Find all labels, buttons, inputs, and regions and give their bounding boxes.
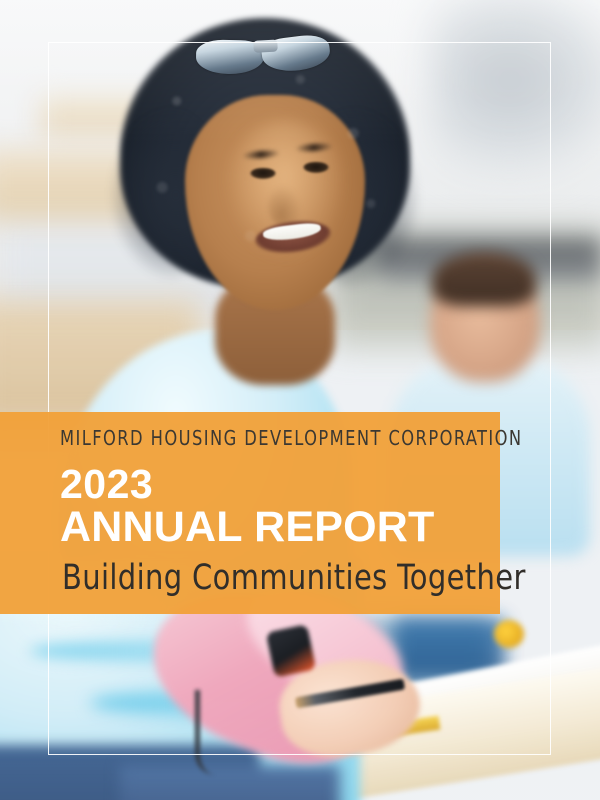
woman-jeans-shadow (120, 765, 340, 800)
title-banner-content: MILFORD HOUSING DEVELOPMENT CORPORATION … (60, 412, 500, 614)
report-year: 2023 (60, 464, 153, 505)
report-cover: MILFORD HOUSING DEVELOPMENT CORPORATION … (0, 0, 600, 800)
sunglasses-bridge (253, 40, 278, 53)
photo-background-structure (430, 0, 600, 180)
man-hair (432, 252, 536, 306)
yellow-tool (494, 620, 524, 648)
cover-photo (0, 0, 600, 800)
report-title: ANNUAL REPORT (60, 504, 434, 551)
report-tagline: Building Communities Together (62, 558, 526, 598)
cord (195, 690, 216, 775)
title-banner: MILFORD HOUSING DEVELOPMENT CORPORATION … (0, 412, 500, 614)
sunglasses-icon (195, 30, 343, 80)
organization-name: MILFORD HOUSING DEVELOPMENT CORPORATION (60, 426, 523, 450)
